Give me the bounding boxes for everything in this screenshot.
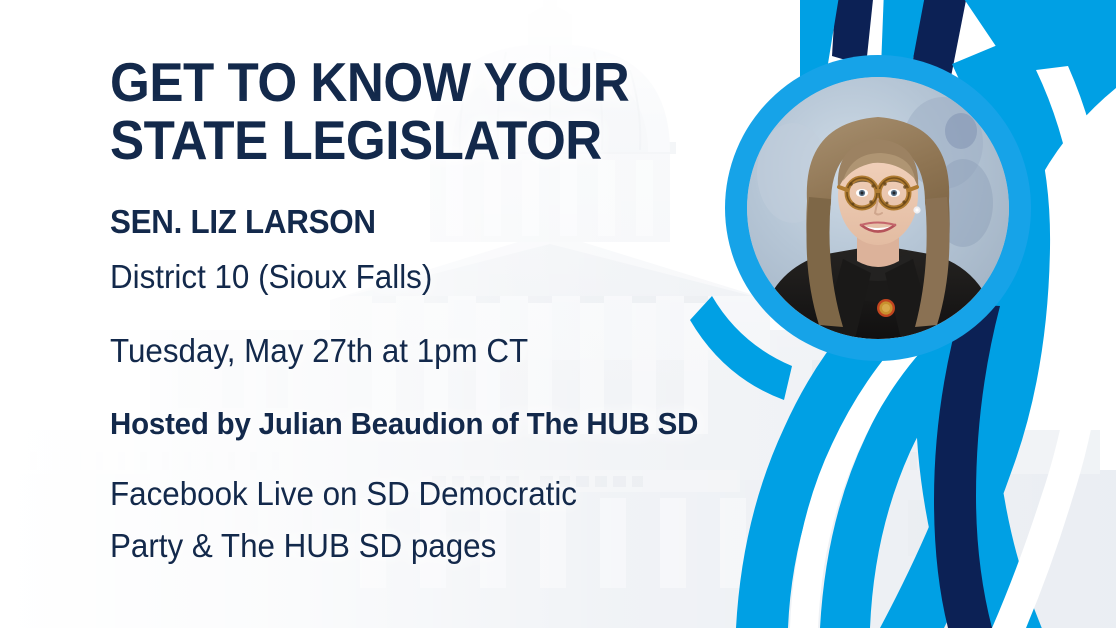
portrait-photo	[747, 77, 1009, 339]
headline-line-1: GET TO KNOW YOUR	[110, 54, 629, 110]
event-poster: GET TO KNOW YOUR STATE LEGISLATOR SEN. L…	[0, 0, 1116, 628]
avatar	[725, 55, 1031, 361]
broadcast-info-line-1: Facebook Live on SD Democratic	[110, 475, 577, 513]
broadcast-info-line-2: Party & The HUB SD pages	[110, 527, 496, 565]
event-host: Hosted by Julian Beaudion of The HUB SD	[110, 405, 698, 443]
legislator-name: SEN. LIZ LARSON	[110, 203, 376, 241]
event-datetime: Tuesday, May 27th at 1pm CT	[110, 332, 528, 370]
text-content: GET TO KNOW YOUR STATE LEGISLATOR SEN. L…	[110, 0, 730, 628]
legislator-district: District 10 (Sioux Falls)	[110, 258, 432, 296]
headline-line-2: STATE LEGISLATOR	[110, 112, 602, 168]
